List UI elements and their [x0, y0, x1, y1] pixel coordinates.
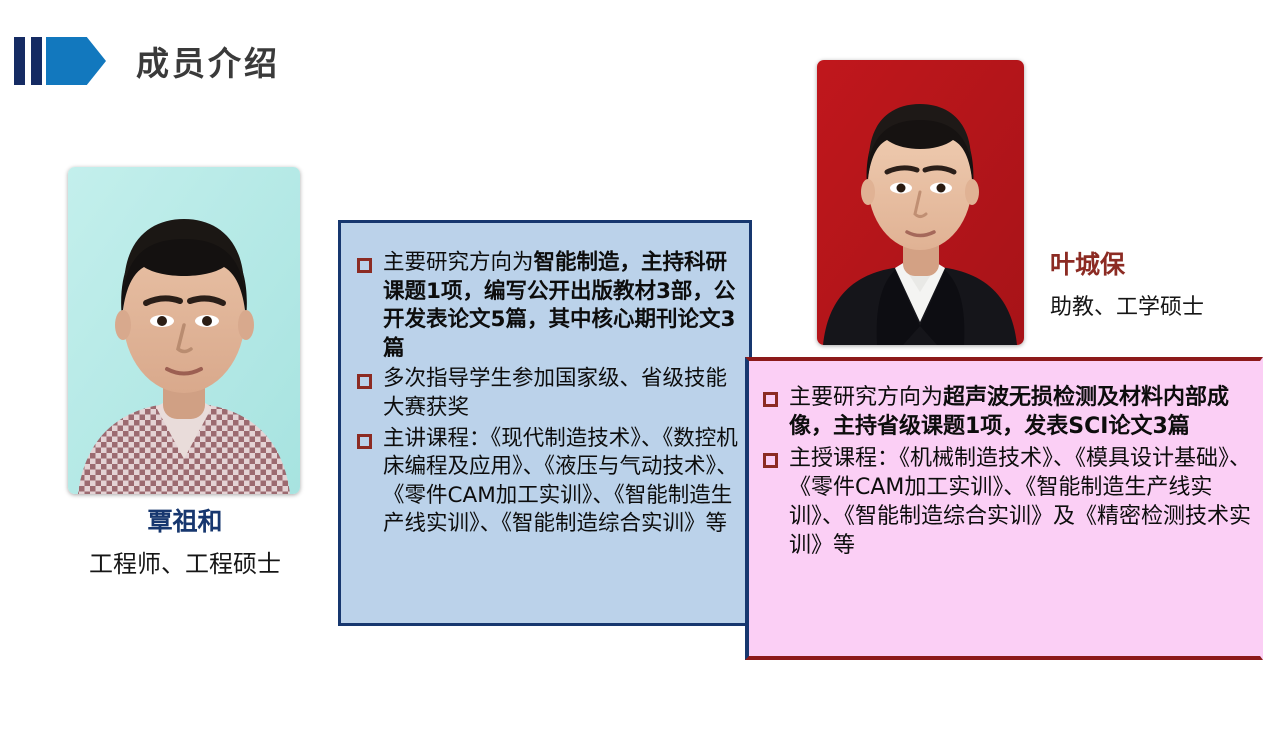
- member-name-ye-chengbao: 叶城保: [1050, 248, 1280, 282]
- square-bullet-icon: [357, 258, 372, 273]
- square-bullet-icon: [763, 453, 778, 468]
- portrait-photo-ye-chengbao: [817, 60, 1024, 345]
- member-role-qin-zuhe: 工程师、工程硕士: [40, 548, 330, 580]
- member-role-ye-chengbao: 助教、工学硕士: [1050, 293, 1280, 323]
- bullet-text: 主要研究方向为智能制造，主持科研课题1项，编写公开出版教材3部，公开发表论文5篇…: [383, 249, 739, 363]
- bullet-text: 主要研究方向为超声波无损检测及材料内部成像，主持省级课题1项，发表SCI论文3篇: [789, 383, 1252, 442]
- bullet-list-qin-zuhe: 主要研究方向为智能制造，主持科研课题1项，编写公开出版教材3部，公开发表论文5篇…: [341, 223, 749, 539]
- page-title: 成员介绍: [136, 37, 280, 85]
- bullet-list-ye-chengbao: 主要研究方向为超声波无损检测及材料内部成像，主持省级课题1项，发表SCI论文3篇…: [749, 361, 1260, 561]
- caption-qin-zuhe: 覃祖和 工程师、工程硕士: [40, 505, 330, 580]
- caption-ye-chengbao: 叶城保 助教、工学硕士: [1050, 248, 1280, 322]
- bullet-item: 主要研究方向为智能制造，主持科研课题1项，编写公开出版教材3部，公开发表论文5篇…: [357, 249, 739, 363]
- bullet-text: 主讲课程：《现代制造技术》、《数控机床编程及应用》、《液压与气动技术》、《零件C…: [383, 425, 739, 539]
- square-bullet-icon: [357, 434, 372, 449]
- header-bar-icon-2: [31, 37, 42, 85]
- member-name-qin-zuhe: 覃祖和: [40, 505, 330, 539]
- slide-header: 成员介绍: [0, 30, 280, 92]
- square-bullet-icon: [763, 392, 778, 407]
- header-decoration-mark: [0, 33, 108, 89]
- header-bar-icon-1: [14, 37, 25, 85]
- portrait-photo-qin-zuhe: [68, 167, 300, 494]
- square-bullet-icon: [357, 374, 372, 389]
- bullet-text: 主授课程：《机械制造技术》、《模具设计基础》、《零件CAM加工实训》、《智能制造…: [789, 444, 1252, 561]
- info-box-ye-chengbao: 主要研究方向为超声波无损检测及材料内部成像，主持省级课题1项，发表SCI论文3篇…: [745, 357, 1263, 660]
- header-arrow-icon: [46, 37, 106, 85]
- info-box-qin-zuhe: 主要研究方向为智能制造，主持科研课题1项，编写公开出版教材3部，公开发表论文5篇…: [338, 220, 752, 626]
- bullet-item: 多次指导学生参加国家级、省级技能大赛获奖: [357, 365, 739, 422]
- bullet-item: 主要研究方向为超声波无损检测及材料内部成像，主持省级课题1项，发表SCI论文3篇: [763, 383, 1252, 442]
- slide-canvas: 成员介绍: [0, 0, 1280, 730]
- bullet-item: 主授课程：《机械制造技术》、《模具设计基础》、《零件CAM加工实训》、《智能制造…: [763, 444, 1252, 561]
- bullet-item: 主讲课程：《现代制造技术》、《数控机床编程及应用》、《液压与气动技术》、《零件C…: [357, 425, 739, 539]
- bullet-text: 多次指导学生参加国家级、省级技能大赛获奖: [383, 365, 739, 422]
